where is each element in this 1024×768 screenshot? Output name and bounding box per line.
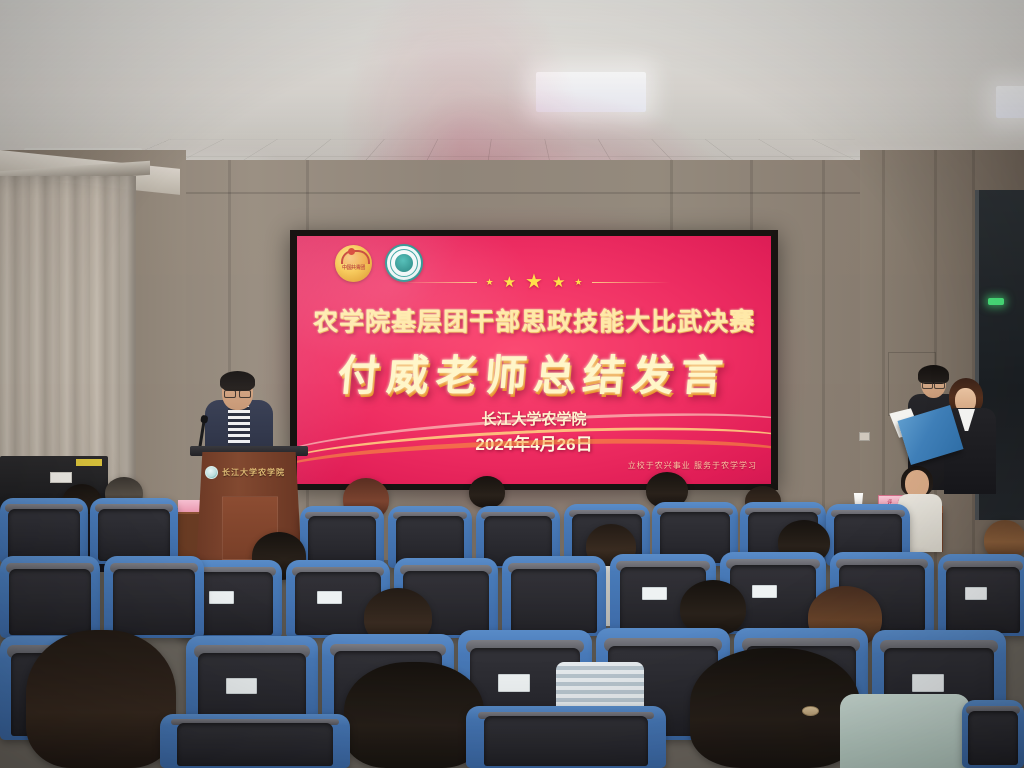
attendee-head [26, 630, 176, 768]
screen-headline: 付威老师总结发言 [297, 342, 771, 403]
led-screen: 中国共青团 ★ ★ ★ ★ ★ 农学院基层团干部思政技能大比武决赛 付威老师总结… [297, 236, 771, 484]
seat[interactable] [104, 556, 204, 638]
podium-label: 长江大学农学院 [222, 467, 285, 478]
seat[interactable] [502, 556, 606, 636]
cabinet-yellow-strip [76, 459, 102, 466]
seat[interactable] [90, 498, 178, 564]
star-icon-5: ★ [574, 278, 582, 287]
star-icon-4: ★ [552, 275, 565, 290]
speaker-glasses-icon [224, 389, 251, 395]
seat[interactable] [300, 506, 384, 568]
attendee-head [469, 476, 505, 508]
speaker-hair [220, 371, 255, 391]
podium-university-seal-icon [205, 466, 218, 479]
auditorium-photo: 中国共青团 ★ ★ ★ ★ ★ 农学院基层团干部思政技能大比武决赛 付威老师总结… [0, 0, 1024, 768]
attendee-torso [840, 694, 970, 768]
star-icon-1: ★ [486, 278, 494, 287]
screen-organization: 长江大学农学院 [297, 408, 771, 429]
seat[interactable] [962, 700, 1024, 768]
cyl-emblem-caption: 中国共青团 [335, 264, 372, 271]
exit-sign [988, 298, 1004, 305]
screen-event-title: 农学院基层团干部思政技能大比武决赛 [297, 302, 771, 338]
seat[interactable] [160, 714, 350, 768]
attendee-torso [556, 662, 644, 712]
screen-date: 2024年4月26日 [297, 430, 771, 455]
wall-outlet[interactable] [859, 432, 870, 441]
seat[interactable] [0, 498, 88, 564]
cabinet-label [50, 472, 72, 483]
led-screen-frame: 中国共青团 ★ ★ ★ ★ ★ 农学院基层团干部思政技能大比武决赛 付威老师总结… [290, 230, 778, 490]
hair-scrunchie [802, 706, 819, 716]
male-host-glasses-icon [922, 382, 945, 387]
attendee-head [344, 662, 484, 768]
star-icon-3: ★ [525, 272, 543, 292]
star-divider: ★ ★ ★ ★ ★ [297, 272, 771, 292]
screen-slogan: 立校于农兴事业 服务于农学学习 [628, 460, 757, 471]
star-icon-2: ★ [503, 275, 516, 290]
seat[interactable] [466, 706, 666, 768]
seat[interactable] [0, 556, 100, 638]
attendee-head [690, 648, 860, 768]
seat[interactable] [938, 554, 1024, 636]
